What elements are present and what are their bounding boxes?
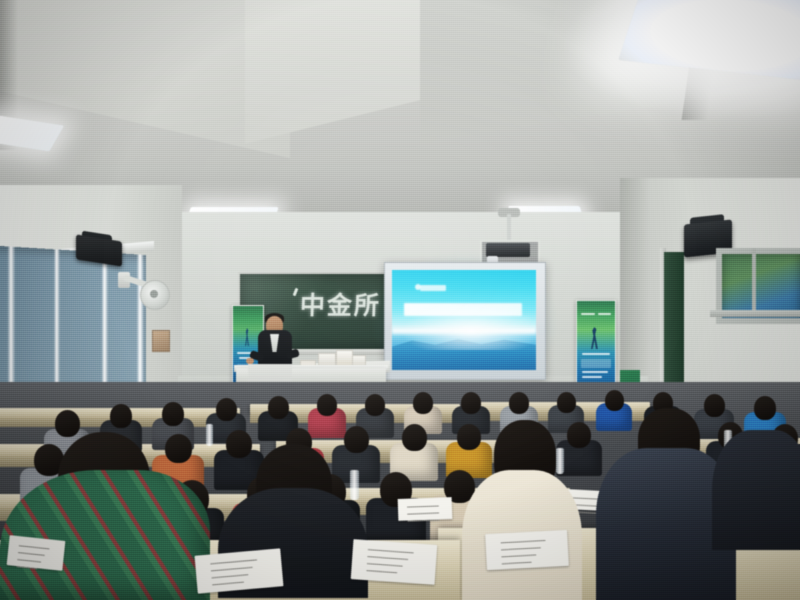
slide-title-text [404, 303, 522, 316]
audience-person-head [344, 426, 369, 453]
slide-logo-text [420, 285, 446, 291]
handout-paper[interactable] [398, 497, 453, 521]
paper-text-line [17, 559, 41, 563]
paper-text-line [211, 567, 253, 572]
classroom-photo: 中金所 [0, 0, 800, 600]
audience-person-head [365, 394, 385, 416]
paper-text-line [407, 513, 439, 515]
audience-person-head [567, 422, 591, 448]
audience-person-head [216, 398, 237, 421]
water-bottle[interactable] [350, 470, 359, 500]
wall-electrical-box[interactable] [152, 330, 170, 352]
paper-text-line [501, 540, 546, 543]
paper-text-line [19, 545, 50, 549]
paper-text-line [407, 506, 439, 508]
foreground-person-patterned-sweater [0, 470, 210, 600]
paper-text-line [368, 549, 414, 553]
paper-text-line [501, 547, 541, 550]
audience-person-head [509, 392, 529, 414]
poster-text-line [582, 353, 610, 355]
paper-text-line [502, 562, 532, 565]
handout-paper[interactable] [195, 548, 284, 593]
audience-person-head [317, 394, 337, 416]
audience-person-head [461, 392, 481, 414]
poster-figure-icon [591, 327, 599, 349]
paper-text-line [211, 574, 248, 578]
audience-person-head [162, 402, 184, 426]
audience-person-head [413, 392, 433, 414]
handout-paper[interactable] [351, 539, 438, 585]
poster-figure-icon [245, 328, 250, 346]
desk-item [336, 350, 353, 366]
paper-text-line [210, 559, 257, 564]
paper-text-line [367, 563, 403, 567]
paper-text-line [367, 556, 408, 560]
audience-person-head [55, 410, 80, 437]
audience-person-head [457, 424, 481, 450]
fan-hub [150, 290, 158, 298]
paper-text-line [18, 552, 45, 556]
window-divider [752, 248, 756, 312]
audience-person-head [704, 394, 725, 417]
paper-text-line [501, 555, 536, 558]
poster-right[interactable] [576, 300, 616, 390]
audience-person-head [226, 430, 252, 458]
paper-text-line [212, 582, 244, 586]
poster-info-block [581, 359, 611, 368]
handout-paper[interactable] [485, 530, 569, 570]
projector-pole [507, 214, 511, 242]
classroom-door[interactable] [664, 252, 684, 402]
poster-text-line [598, 313, 611, 315]
poster-text-line [582, 376, 602, 378]
audience-person-head [165, 434, 192, 463]
water-bottle[interactable] [206, 424, 213, 446]
foreground-person-right-edge [712, 430, 800, 550]
audience-person-head [754, 396, 776, 420]
audience-person-head [110, 404, 132, 428]
paper-text-line [366, 570, 397, 573]
window-sill [710, 310, 800, 317]
audience-person-head [605, 390, 624, 411]
poster-text-line [582, 371, 608, 373]
audience-person-head [557, 392, 576, 413]
handout-paper[interactable] [7, 535, 66, 571]
audience-person-head [402, 424, 427, 451]
poster-text-line [581, 313, 595, 315]
audience-person-head [268, 396, 289, 419]
water-bottle[interactable] [556, 448, 564, 474]
